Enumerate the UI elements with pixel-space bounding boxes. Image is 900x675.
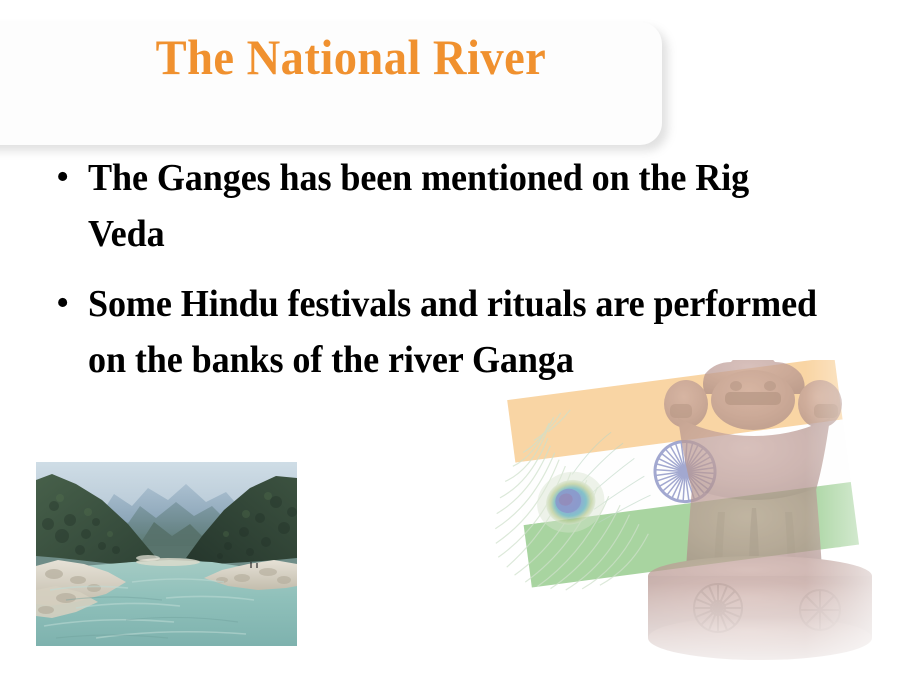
list-item: • Some Hindu festivals and rituals are p… [48,276,860,388]
bullet-point-icon: • [48,150,88,204]
list-item: • The Ganges has been mentioned on the R… [48,150,860,262]
ashoka-chakra-icon [651,438,718,505]
flag-back-panel [524,421,840,563]
bullet-text: The Ganges has been mentioned on the Rig… [88,150,821,262]
bullet-list: • The Ganges has been mentioned on the R… [48,150,860,402]
lion-capital-statue [648,360,872,660]
peacock-feather-icon [470,394,672,612]
bullet-point-icon: • [48,276,88,330]
india-emblem-artwork [470,360,900,670]
ganges-river-photo [36,462,297,646]
page-title: The National River [32,32,869,82]
slide-canvas: The National River • The Ganges has been… [0,0,900,675]
bullet-text: Some Hindu festivals and rituals are per… [88,276,821,388]
